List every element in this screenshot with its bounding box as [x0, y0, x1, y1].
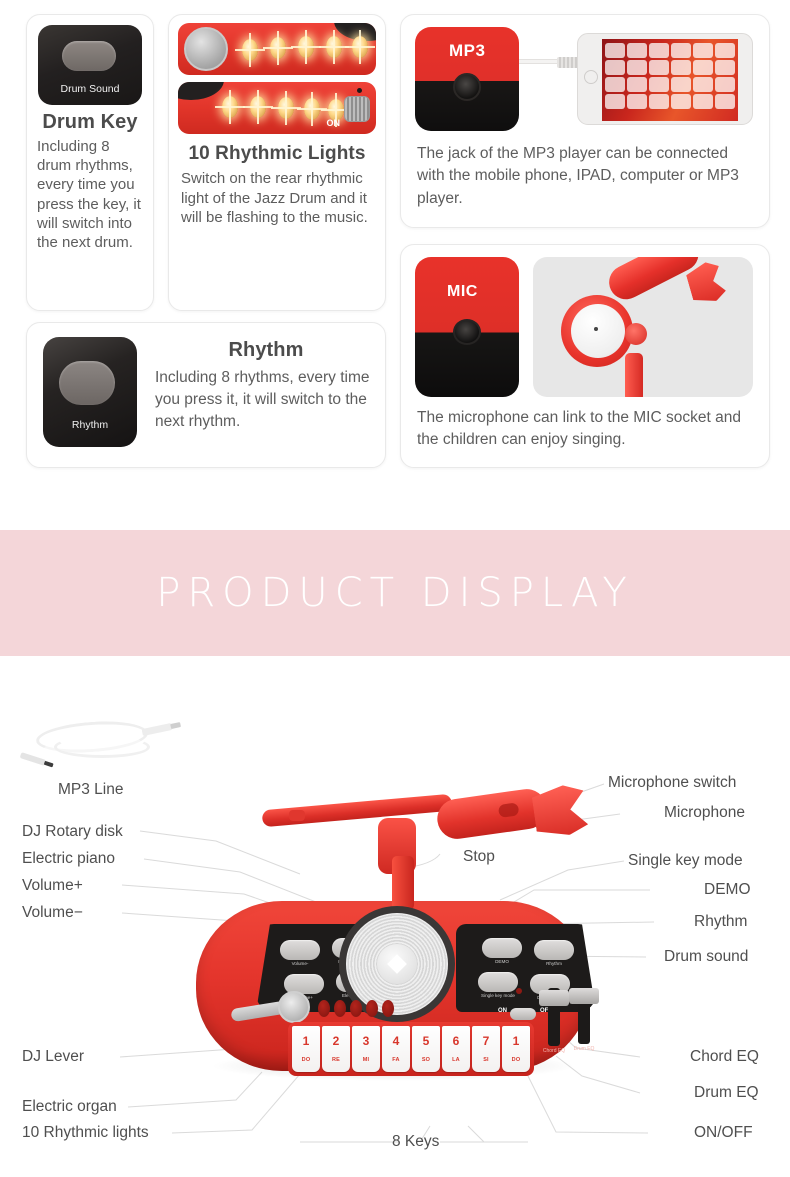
piano-key-solfege: MI: [352, 1057, 380, 1063]
light-bulb-icon: [304, 98, 320, 120]
mp3-jack-icon: [453, 73, 481, 101]
volume-minus-button-label: Volume-: [276, 961, 324, 966]
rhythmic-light-icon: [350, 1000, 362, 1017]
app-icon: [671, 94, 691, 109]
drum-sound-button-image: [62, 41, 116, 71]
piano-key-solfege: SO: [412, 1057, 440, 1063]
piano-key[interactable]: 1DO: [292, 1026, 320, 1072]
app-icon: [627, 94, 647, 109]
label-rhythm: Rhythm: [694, 913, 747, 931]
mp3-body: The jack of the MP3 player can be connec…: [417, 143, 757, 210]
app-icon: [627, 60, 647, 75]
cable-loop: [54, 736, 150, 758]
label-drum-sound: Drum sound: [664, 948, 748, 966]
drum-eq-slider-label: Drum EQ: [567, 1046, 601, 1052]
app-icon: [715, 77, 735, 92]
piano-key[interactable]: 7SI: [472, 1026, 500, 1072]
cable-plug-icon: [557, 57, 579, 68]
light-bulb-icon: [222, 96, 238, 118]
mic-body: The microphone can link to the MIC socke…: [417, 407, 761, 450]
cable-plug-icon: [142, 723, 173, 736]
single-key-mode-button-label: Single key mode: [474, 993, 522, 998]
feature-card-drum-key: Key Drum Sound Drum Key Including 8 drum…: [26, 14, 154, 311]
dj-lever-knob[interactable]: [278, 991, 310, 1023]
piano-key-number: 7: [472, 1034, 500, 1048]
app-icon: [671, 77, 691, 92]
rhythmic-light-icon: [334, 1000, 346, 1017]
demo-button[interactable]: [482, 938, 522, 958]
chord-eq-slider[interactable]: [548, 988, 560, 1046]
app-icon: [605, 43, 625, 58]
app-icon: [649, 60, 669, 75]
label-on-off: ON/OFF: [694, 1124, 753, 1142]
slider-thumb[interactable]: [569, 988, 599, 1004]
microphone-switch-icon[interactable]: [289, 810, 305, 821]
label-dj-rotary-disk: DJ Rotary disk: [22, 823, 123, 841]
drum-key-body: Including 8 drum rhythms, every time you…: [35, 137, 145, 252]
label-dj-lever: DJ Lever: [22, 1048, 84, 1066]
app-icon: [649, 43, 669, 58]
piano-key[interactable]: 6LA: [442, 1026, 470, 1072]
piano-key-number: 6: [442, 1034, 470, 1048]
app-icon: [605, 60, 625, 75]
app-icon: [715, 43, 735, 58]
label-10-rhythmic-lights: 10 Rhythmic lights: [22, 1124, 149, 1142]
piano-keyboard: 1DO 2RE 3MI 4FA 5SO 6LA 7SI 1DO: [288, 1022, 534, 1076]
microphone-mount-stem: [392, 856, 414, 910]
piano-key-number: 3: [352, 1034, 380, 1048]
microphone-button-icon: [625, 323, 647, 345]
label-demo: DEMO: [704, 881, 751, 899]
light-bulb-icon: [250, 96, 266, 118]
label-mp3-line: MP3 Line: [58, 781, 123, 799]
label-chord-eq: Chord EQ: [690, 1048, 759, 1066]
single-key-mode-button[interactable]: [478, 972, 518, 992]
piano-key-number: 1: [502, 1034, 530, 1048]
app-icon: [671, 60, 691, 75]
app-icon: [693, 60, 713, 75]
mp3-cable-image: [519, 59, 579, 64]
light-bulb-icon: [352, 36, 368, 58]
smartphone-image: [577, 33, 753, 125]
label-volume-up: Volume+: [22, 877, 83, 895]
label-microphone: Microphone: [664, 804, 745, 822]
home-button-icon: [584, 70, 598, 84]
piano-key[interactable]: 5SO: [412, 1026, 440, 1072]
feature-card-mic: MIC The microphone can link to the MIC s…: [400, 244, 770, 468]
strip-on-label: ON: [327, 118, 341, 128]
drum-eq-slider[interactable]: [578, 986, 590, 1044]
rhythm-photo-caption: Rhythm: [43, 419, 137, 431]
rhythm-body: Including 8 rhythms, every time you pres…: [155, 367, 381, 433]
label-single-key-mode: Single key mode: [628, 852, 743, 870]
label-electric-organ: Electric organ: [22, 1098, 117, 1116]
dj-disk-hub: [377, 944, 417, 984]
light-bulb-icon: [270, 37, 286, 59]
rhythmic-lights-title: 10 Rhythmic Lights: [177, 143, 377, 165]
product-detail-page: Key Drum Sound Drum Key Including 8 drum…: [0, 0, 790, 1177]
rhythmic-light-icon: [318, 1000, 330, 1017]
app-icon: [693, 94, 713, 109]
label-drum-eq: Drum EQ: [694, 1084, 759, 1102]
app-icon: [715, 60, 735, 75]
piano-key[interactable]: 2RE: [322, 1026, 350, 1072]
chord-eq-slider-label: Chord EQ: [537, 1048, 571, 1054]
label-8-keys: 8 Keys: [392, 1133, 439, 1151]
label-microphone-switch: Microphone switch: [608, 774, 736, 792]
light-bulb-icon: [298, 36, 314, 58]
rhythm-button-photo: Rhythm: [43, 337, 137, 447]
app-icon: [605, 77, 625, 92]
drum-key-title: Drum Key: [35, 111, 145, 134]
app-icon: [693, 77, 713, 92]
product-display-banner: PRODUCT DISPLAY: [0, 530, 790, 656]
rhythmic-lights-body: Switch on the rear rhythmic light of the…: [177, 169, 377, 228]
mic-jack-icon: [453, 319, 481, 345]
microphone-photo: [533, 257, 753, 397]
app-icon: [649, 94, 669, 109]
piano-key[interactable]: 3MI: [352, 1026, 380, 1072]
mic-socket-photo: MIC: [415, 257, 519, 397]
piano-key-number: 2: [322, 1034, 350, 1048]
drum-key-photo-caption: Drum Sound: [38, 83, 142, 95]
piano-key-number: 5: [412, 1034, 440, 1048]
app-icon: [627, 77, 647, 92]
app-icon: [649, 77, 669, 92]
piano-key-solfege: LA: [442, 1057, 470, 1063]
mic-photo-label: MIC: [447, 283, 478, 301]
indicator-dot-icon: [357, 88, 362, 93]
app-icon: [627, 43, 647, 58]
piano-key-solfege: FA: [382, 1057, 410, 1063]
rhythm-button[interactable]: [534, 940, 574, 960]
light-bulb-icon: [242, 39, 258, 61]
product-diagram: Volume- Electric piano Volume+ Electric …: [0, 656, 790, 1177]
mp3-photo-label: MP3: [449, 41, 485, 61]
microphone-stem: [625, 353, 643, 397]
app-icon: [605, 94, 625, 109]
piano-key-solfege: RE: [322, 1057, 350, 1063]
piano-key-solfege: DO: [292, 1057, 320, 1063]
cable-plug-icon: [20, 752, 47, 766]
piano-key-number: 4: [382, 1034, 410, 1048]
power-switch-icon: [344, 96, 370, 122]
feature-card-mp3: MP3 The jack of the MP3 player can be co…: [400, 14, 770, 228]
light-bulb-icon: [278, 97, 294, 119]
rhythmic-lights-photo-bottom: ON: [178, 82, 376, 134]
switch-on-label: ON: [498, 1008, 507, 1014]
banner-title: PRODUCT DISPLAY: [156, 570, 634, 616]
on-off-switch[interactable]: [510, 1008, 536, 1020]
microphone-grille: [571, 304, 625, 358]
demo-button-label: DEMO: [478, 959, 526, 964]
piano-key-solfege: SI: [472, 1057, 500, 1063]
mp3-socket-photo: MP3: [415, 27, 519, 131]
rhythmic-light-icon: [366, 1000, 378, 1017]
strip-black-corner: [178, 82, 224, 100]
label-stop: Stop: [463, 848, 495, 866]
label-volume-down: Volume−: [22, 904, 83, 922]
rhythm-button-label: Rhythm: [530, 961, 578, 966]
rhythmic-light-icon: [382, 1000, 394, 1017]
volume-minus-button[interactable]: [280, 940, 320, 960]
phone-screen: [602, 39, 738, 121]
piano-key[interactable]: 4FA: [382, 1026, 410, 1072]
rhythm-title: Rhythm: [155, 339, 377, 362]
light-bulb-icon: [326, 36, 342, 58]
label-electric-piano: Electric piano: [22, 850, 115, 868]
piano-key-solfege: DO: [502, 1057, 530, 1063]
rotary-knob-icon: [184, 27, 228, 71]
drum-key-photo: Drum Sound: [38, 25, 142, 105]
piano-key-number: 1: [292, 1034, 320, 1048]
feature-card-rhythm: Rhythm Rhythm Including 8 rhythms, every…: [26, 322, 386, 468]
app-icon: [671, 43, 691, 58]
slider-thumb[interactable]: [539, 990, 569, 1006]
power-indicator-icon: [516, 988, 522, 994]
rhythmic-lights-photo-top: [178, 23, 376, 75]
feature-card-rhythmic-lights: ON 10 Rhythmic Lights Switch on the rear…: [168, 14, 386, 311]
piano-key[interactable]: 1DO: [502, 1026, 530, 1072]
rhythm-button-image: [59, 361, 115, 405]
mp3-cable-illustration: [14, 720, 174, 768]
app-icon: [715, 94, 735, 109]
app-icon: [693, 43, 713, 58]
rhythmic-lights-row: [318, 1000, 394, 1017]
